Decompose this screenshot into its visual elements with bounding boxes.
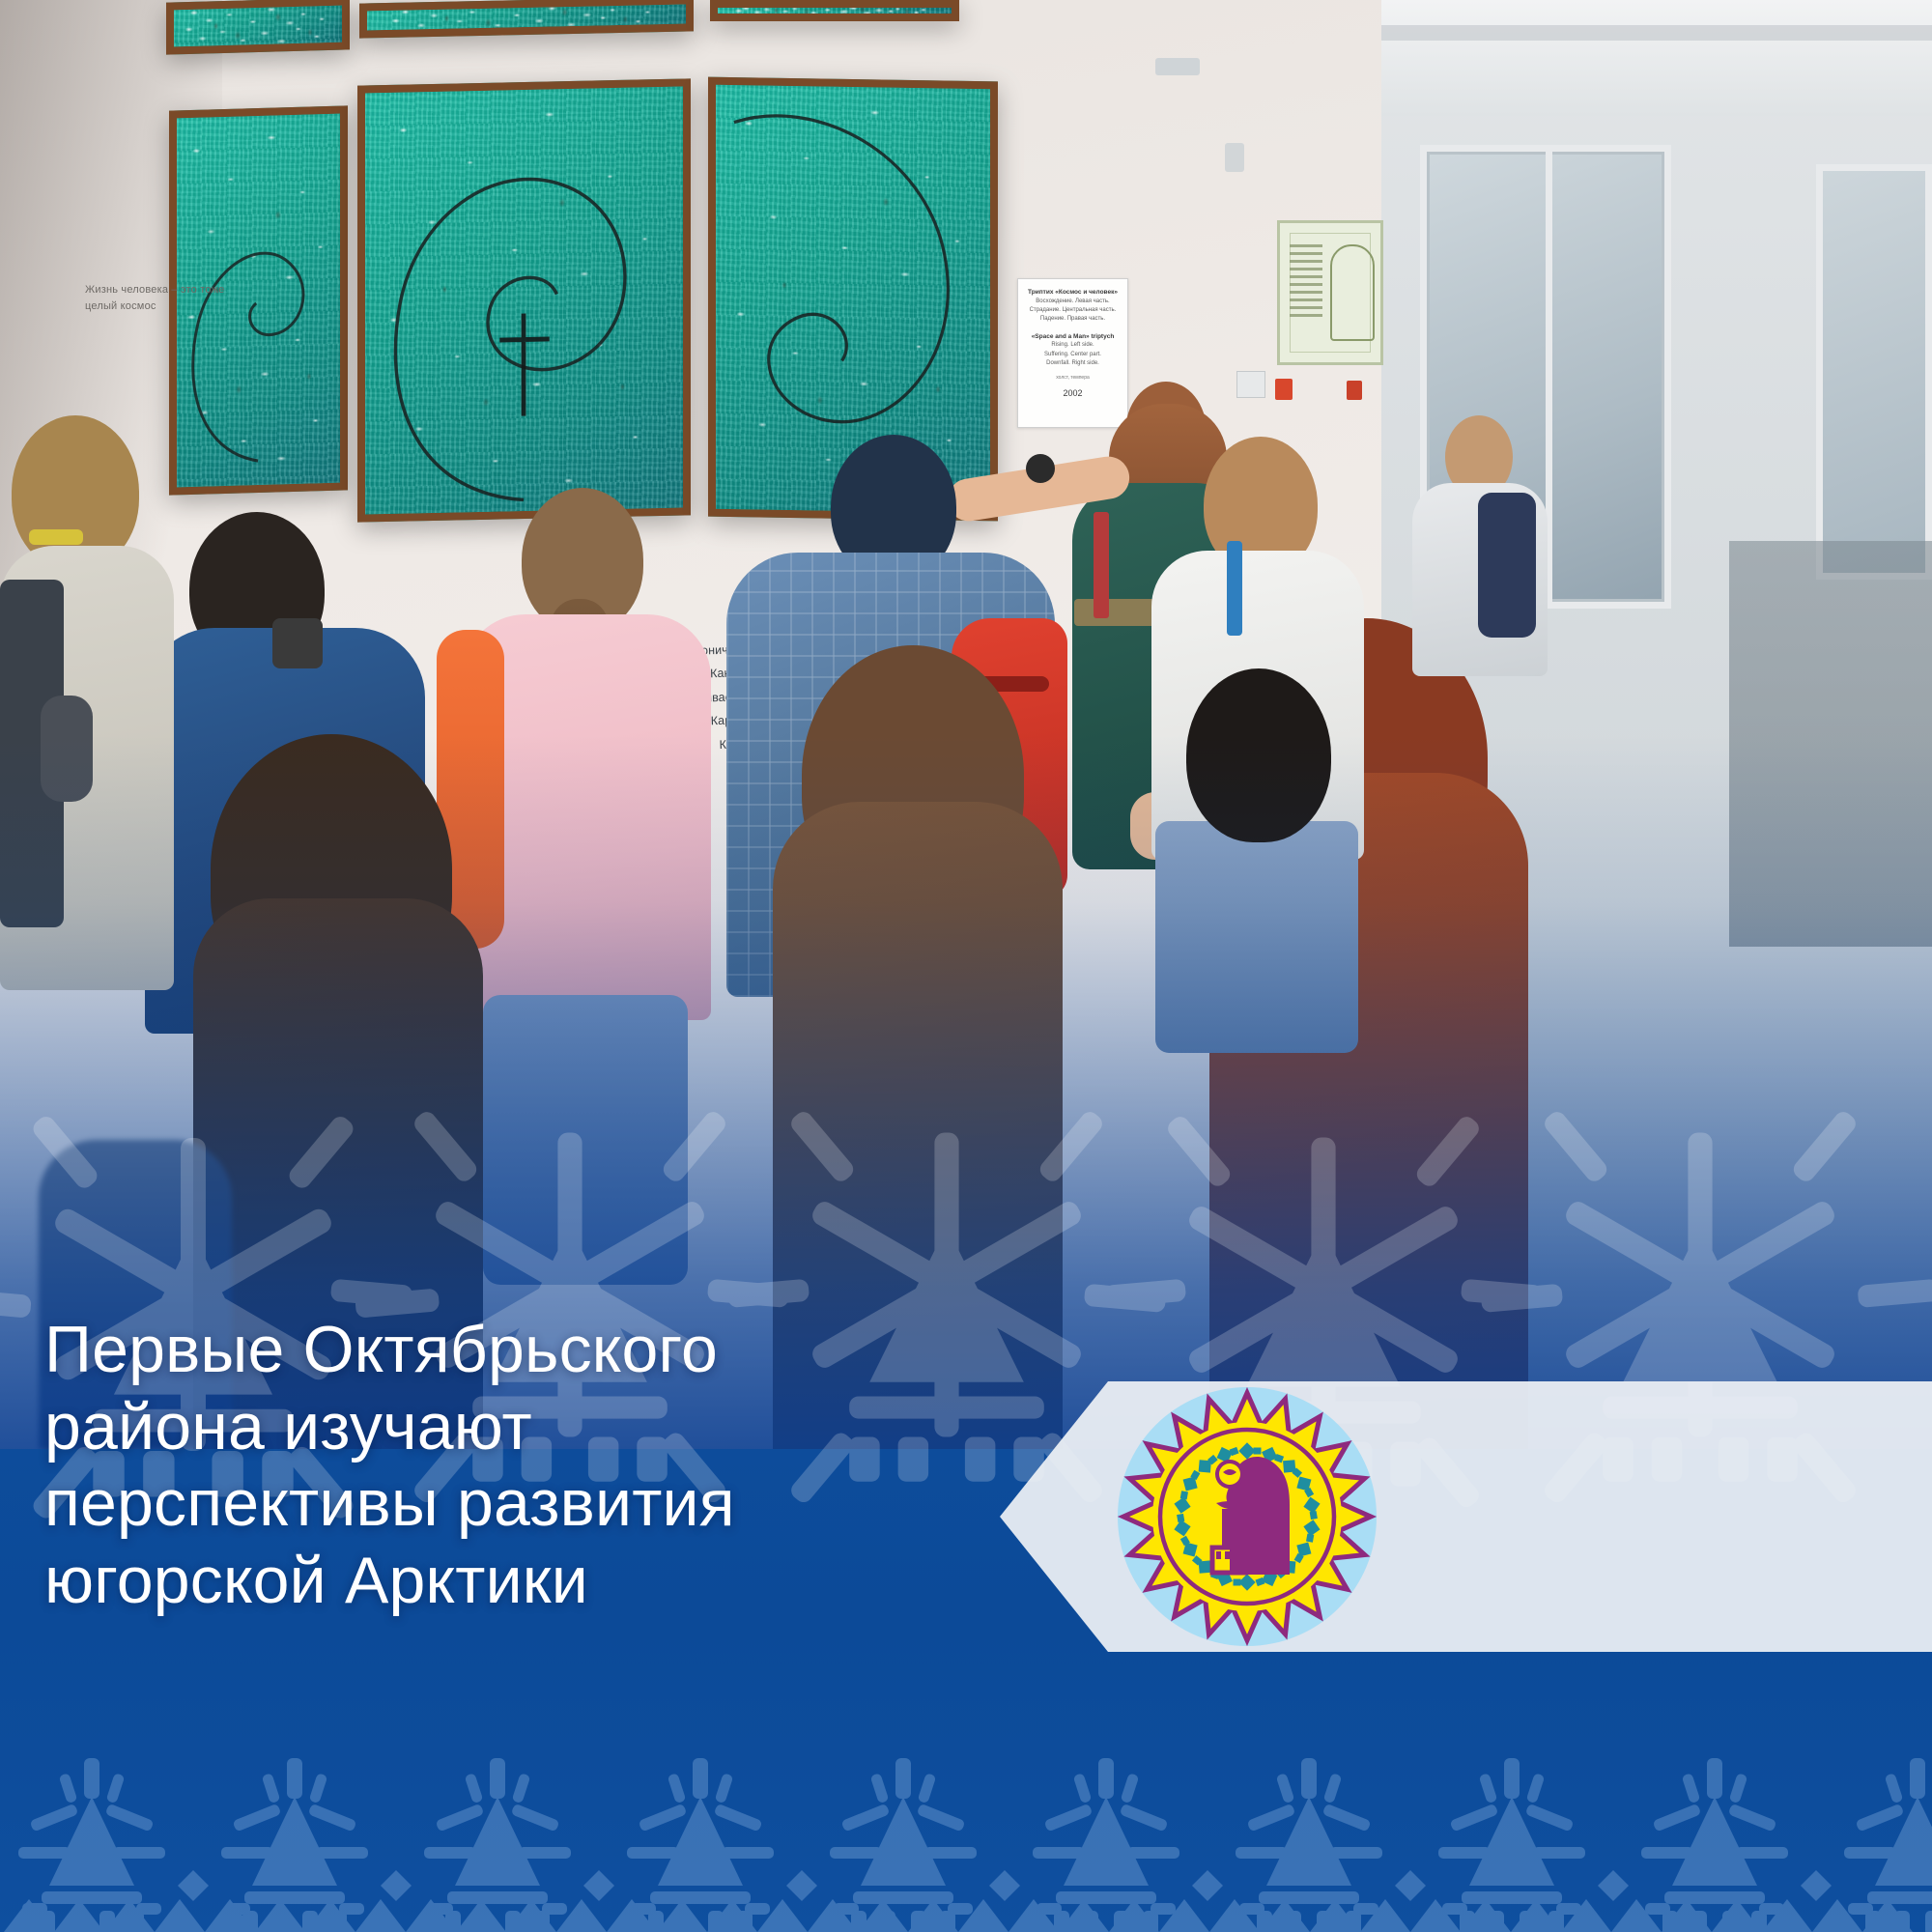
bottom-ornament-band xyxy=(0,1748,1932,1932)
label-line-en-1: Rising. Left side. xyxy=(1023,341,1122,350)
label-line-en-3: Downfall. Right side. xyxy=(1023,359,1122,368)
label-line-ru-3: Падение. Правая часть. xyxy=(1023,315,1122,324)
emblem-banner xyxy=(1000,1372,1932,1662)
artwork-label-card: Триптих «Космос и человек» Восхождение. … xyxy=(1017,278,1128,428)
sensor-icon xyxy=(1225,143,1244,172)
district-emblem xyxy=(1116,1385,1378,1648)
label-year: 2002 xyxy=(1023,388,1122,398)
label-title-en: «Space and a Man» triptych xyxy=(1023,332,1122,342)
wall-notice-plaque xyxy=(1277,220,1383,365)
poster-root: Жизнь человека – это тоже целый космос Т… xyxy=(0,0,1932,1932)
label-title-ru: Триптих «Космос и человек» xyxy=(1023,288,1122,298)
painting-top-left-clipped xyxy=(166,0,350,55)
label-line-en-2: Suffering. Center part. xyxy=(1023,351,1122,359)
headline-line-3: перспективы развития xyxy=(44,1465,1088,1543)
headline-line-1: Первые Октябрьского xyxy=(44,1312,1088,1389)
headline-line-4: югорской Арктики xyxy=(44,1543,1088,1620)
wall-caption-left: Жизнь человека – это тоже целый космос xyxy=(85,282,230,314)
label-line-ru-2: Страдание. Центральная часть. xyxy=(1023,306,1122,315)
label-line-ru-1: Восхождение. Левая часть. xyxy=(1023,298,1122,306)
wall-caption-left-text: Жизнь человека – это тоже целый космос xyxy=(85,284,224,312)
window-secondary xyxy=(1816,164,1932,580)
label-medium: холст, темпера xyxy=(1023,375,1122,381)
ceiling-band xyxy=(1381,25,1932,41)
fire-alarm-icon xyxy=(1275,379,1293,400)
ceiling xyxy=(1381,0,1932,116)
fire-alarm-icon xyxy=(1347,381,1362,400)
painting-center-panel xyxy=(357,78,691,522)
ceiling-fixture xyxy=(1155,58,1200,75)
headline-line-2: района изучают xyxy=(44,1389,1088,1466)
painting-top-right-clipped xyxy=(710,0,959,21)
wall-box xyxy=(1236,371,1265,398)
page-title: Первые Октябрьского района изучают персп… xyxy=(44,1312,1088,1619)
